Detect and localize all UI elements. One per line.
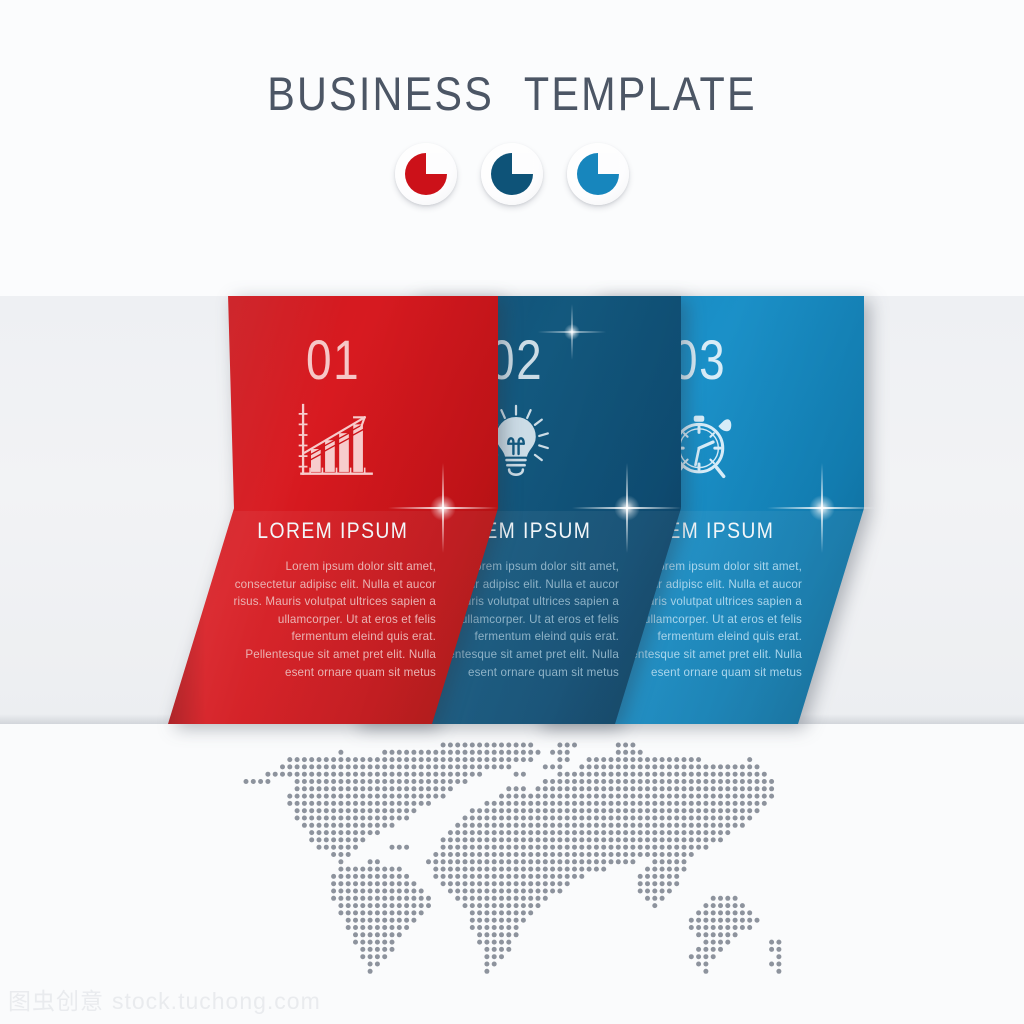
watermark-domain: stock.tuchong.com bbox=[112, 988, 321, 1014]
panel-1-number: 01 bbox=[306, 332, 360, 388]
bar-chart-growth-icon bbox=[287, 396, 379, 488]
panel-1-content: 01 bbox=[168, 296, 498, 724]
pie-badge-blue[interactable] bbox=[567, 143, 629, 205]
page-title: BUSINESSTEMPLATE bbox=[61, 66, 962, 121]
pie-missing-slice bbox=[426, 153, 447, 174]
panel-1-heading: LOREM IPSUM bbox=[257, 518, 408, 544]
pie-badge-navy[interactable] bbox=[481, 143, 543, 205]
pie-badge-red[interactable] bbox=[395, 143, 457, 205]
dotted-world-map bbox=[243, 742, 788, 992]
title-word-business: BUSINESS bbox=[267, 67, 494, 120]
watermark: 图虫创意stock.tuchong.com bbox=[8, 982, 321, 1016]
arrow-panel-1[interactable]: 01 bbox=[168, 296, 498, 724]
pie-missing-slice bbox=[512, 153, 533, 174]
infographic-canvas: BUSINESSTEMPLATE bbox=[0, 0, 1024, 1024]
pie-badge-row bbox=[0, 143, 1024, 213]
arrow-panel-row: 03 bbox=[0, 296, 1024, 724]
title-word-template: TEMPLATE bbox=[524, 67, 757, 120]
pie-missing-slice bbox=[598, 153, 619, 174]
panel-1-paragraph: Lorem ipsum dolor sitt amet, consectetur… bbox=[230, 558, 436, 681]
header: BUSINESSTEMPLATE bbox=[0, 0, 1024, 296]
watermark-chinese: 图虫创意 bbox=[8, 989, 104, 1015]
